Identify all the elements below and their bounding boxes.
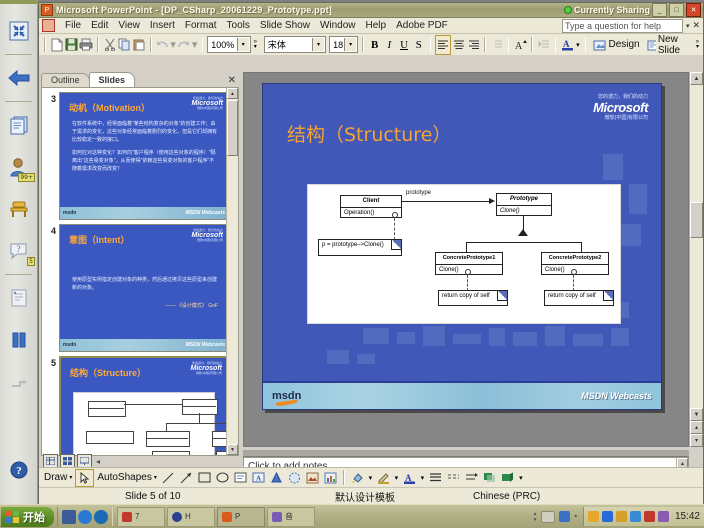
line-style-icon[interactable]: [427, 470, 444, 486]
thumbnail-quote: —— 《设计模式》 GoF: [72, 303, 218, 311]
uml-generalization-triangle: [518, 229, 528, 236]
thumbnail-scrollbar[interactable]: ▲ ▼: [226, 88, 238, 455]
ask-a-question-input[interactable]: Type a question for help: [562, 19, 683, 33]
slide-footer: msdn MSDN Webcasts: [263, 381, 661, 409]
scroll-tasks-icon[interactable]: ▲▼: [533, 511, 538, 523]
fill-color-icon[interactable]: [349, 470, 366, 486]
leave-icon: [0, 361, 38, 403]
numbering-icon: [490, 36, 504, 54]
toolbar-sep-1: [97, 37, 99, 52]
menu-item-adobe-pdf[interactable]: Adobe PDF: [391, 19, 453, 33]
taskbar-item-label: 7: [135, 512, 139, 521]
align-left-button[interactable]: [435, 35, 451, 55]
redo-icon: [177, 36, 191, 54]
paste-icon[interactable]: [132, 36, 146, 54]
normal-view-button[interactable]: [43, 454, 58, 468]
qa-count-badge: 5: [27, 257, 35, 266]
msdn-logo: msdn: [63, 342, 76, 348]
shadow-style-icon[interactable]: [481, 470, 498, 486]
tray-icon-orange[interactable]: [588, 511, 599, 522]
document-icon: [42, 19, 55, 32]
chevron-down-icon: ▾: [69, 474, 72, 481]
svg-text:?: ?: [17, 244, 21, 254]
chevron-down-icon[interactable]: ▾: [312, 38, 324, 51]
ms-subsidiary: 微软(中国)有限公司: [593, 116, 648, 122]
taskbar-item-label: 音: [285, 511, 293, 522]
msdn-webcasts-label: MSDN Webcasts: [581, 391, 652, 401]
menu-item-tools[interactable]: Tools: [222, 19, 255, 33]
uml-class-diagram[interactable]: Client Operation() prototype Prototype C…: [307, 184, 621, 324]
scrollbar-thumb[interactable]: [227, 100, 238, 156]
3d-style-icon[interactable]: [499, 470, 516, 486]
font-name-value: 宋体: [268, 38, 312, 51]
browser-icon[interactable]: [94, 510, 108, 524]
increase-font-size-icon[interactable]: A: [513, 36, 527, 54]
design-button-label: Design: [608, 39, 639, 50]
menu-bar: File Edit View Insert Format Tools Slide…: [39, 18, 703, 34]
thumbnail-paragraph: 使用原型实例指定创建对象的种类，然后通过拷贝这些原型来创建新的对象。: [72, 277, 218, 293]
previous-slide-button[interactable]: ▴: [690, 421, 703, 434]
close-button[interactable]: ✕: [686, 3, 701, 17]
svg-text:?: ?: [16, 465, 22, 477]
menu-item-edit[interactable]: Edit: [86, 19, 113, 33]
rail-divider-1: [5, 54, 32, 55]
menu-item-format[interactable]: Format: [180, 19, 222, 33]
minimize-button[interactable]: _: [652, 3, 667, 17]
scroll-controls-bottom: ▼ ▴ ▾: [690, 408, 703, 447]
uml-class-name: ConcretePrototype2: [542, 253, 608, 265]
text-box-icon[interactable]: [232, 470, 249, 486]
line-icon[interactable]: [160, 470, 177, 486]
attendees-icon[interactable]: 99+: [0, 146, 38, 188]
thumbnail-item[interactable]: 4 意图（Intent） 您的潜力，我们的动力 Microsoft 微软(中国)…: [42, 220, 238, 352]
tray-icon-purple[interactable]: [658, 511, 669, 522]
scroll-up-arrow-icon[interactable]: ▲: [227, 88, 238, 99]
close-document-button[interactable]: ✕: [692, 20, 700, 31]
handouts-icon[interactable]: [0, 104, 38, 146]
meeting-notes-icon[interactable]: [0, 277, 38, 319]
language-indicator[interactable]: Chinese (PRC): [467, 491, 546, 502]
tab-outline[interactable]: Outline: [41, 73, 90, 87]
quick-launch-bar: [57, 507, 113, 526]
align-right-button[interactable]: [467, 36, 481, 54]
thumbnail-number: 5: [44, 356, 59, 368]
taskbar-item[interactable]: H: [167, 507, 215, 527]
pause-icon[interactable]: [0, 319, 38, 361]
font-size-value: 18: [333, 40, 344, 50]
slide-sorter-view-button[interactable]: [60, 454, 75, 468]
thumbnail-title: 意图（Intent）: [69, 233, 130, 246]
copy-icon[interactable]: [118, 36, 132, 54]
ime-more-icon[interactable]: ▪: [574, 513, 576, 520]
uml-class-name: Prototype: [497, 194, 551, 206]
oval-icon[interactable]: [214, 470, 231, 486]
toolbar-sep-2: [150, 37, 152, 52]
uml-association-label: prototype: [406, 190, 431, 196]
shadow-button[interactable]: S: [412, 36, 426, 54]
note-fold-corner-icon: [603, 291, 613, 301]
close-pane-button[interactable]: ✕: [228, 74, 239, 87]
draw-menu-label: Draw: [44, 472, 67, 483]
view-mode-buttons: ◂: [43, 454, 100, 468]
bold-button[interactable]: B: [368, 36, 382, 54]
toolbar-sep-5: [430, 37, 432, 52]
thumbnail-number: 4: [44, 224, 59, 236]
help-icon[interactable]: ?: [0, 449, 38, 491]
drawbar-sep-1: [343, 470, 345, 485]
ms-subsidiary: 微软(中国)有限公司: [192, 239, 224, 242]
menu-item-window[interactable]: Window: [315, 19, 361, 33]
screen: 99+ ? 5 ? P Microsoft PowerPoint - [DP_C…: [0, 0, 704, 528]
show-desktop-icon[interactable]: [62, 510, 76, 524]
thumbnail-slide-4[interactable]: 意图（Intent） 您的潜力，我们的动力 Microsoft 微软(中国)有限…: [59, 224, 229, 352]
app-icon: [272, 512, 282, 522]
ms-subsidiary: 微软(中国)有限公司: [192, 107, 224, 110]
thumbnail-title: 结构（Structure）: [70, 366, 146, 379]
design-template-name: 默认设计模板: [329, 489, 401, 504]
ms-wordmark: Microsoft: [593, 101, 648, 116]
save-icon[interactable]: [64, 36, 78, 54]
seating-icon[interactable]: [0, 188, 38, 230]
thumbnail-ms-logo: 您的潜力，我们的动力 Microsoft 微软(中国)有限公司: [192, 229, 224, 243]
thumbnail-ms-logo: 您的潜力，我们的动力 Microsoft 微软(中国)有限公司: [191, 362, 223, 376]
sharing-status-dot: [564, 6, 572, 14]
title-bar-right: Currently Sharing _ □ ✕: [564, 3, 701, 17]
tray-icon-person[interactable]: [616, 511, 627, 522]
undo-dropdown-icon: ▾: [170, 36, 176, 54]
svg-text:A: A: [256, 475, 261, 483]
print-icon[interactable]: [79, 36, 93, 54]
uml-generalization-bar: [466, 242, 582, 243]
uml-generalization-stem: [523, 216, 524, 230]
thumbnail-ms-logo: 您的潜力，我们的动力 Microsoft 微软(中国)有限公司: [192, 97, 224, 111]
font-color-dropdown-icon[interactable]: ▾: [419, 470, 426, 486]
fill-color-dropdown-icon[interactable]: ▾: [367, 470, 374, 486]
next-slide-button[interactable]: ▾: [690, 434, 703, 447]
svg-text:A: A: [563, 39, 570, 49]
system-clock[interactable]: 15:42: [672, 511, 700, 522]
notes-splitter[interactable]: [243, 449, 689, 457]
standard-formatting-toolbar: ▾ ▾ 100% ▾ »▾ 宋体 ▾ 18 ▾ B I U S: [39, 34, 703, 56]
chevron-down-icon: ▾: [154, 474, 157, 481]
slide-show-view-button[interactable]: [77, 454, 92, 468]
restore-button[interactable]: □: [669, 3, 684, 17]
uml-association-line: [402, 201, 490, 202]
font-size-combo[interactable]: 18 ▾: [329, 36, 358, 53]
uml-note-text: p = prototype–>Clone(): [322, 242, 384, 248]
thumbnail-uml-diagram: [73, 392, 215, 456]
draw-menu-button[interactable]: Draw ▾: [42, 472, 74, 483]
arrow-icon[interactable]: [178, 470, 195, 486]
slide-ms-logo: 您的潜力，我们的动力 Microsoft 微软(中国)有限公司: [593, 95, 648, 121]
thumbnail-body: 使用原型实例指定创建对象的种类，然后通过拷贝这些原型来创建新的对象。 —— 《设…: [72, 277, 218, 310]
tray-icon-blue[interactable]: [602, 511, 613, 522]
app-icon: [122, 512, 132, 522]
window-title: Microsoft PowerPoint - [DP_CSharp_200612…: [56, 5, 332, 15]
align-center-button[interactable]: [452, 36, 466, 54]
tab-slides[interactable]: Slides: [89, 72, 136, 87]
menu-item-insert[interactable]: Insert: [145, 19, 180, 33]
taskbar-items: 7 H P 音 ▲▼ ▪: [113, 507, 583, 527]
status-bar: Slide 5 of 10 默认设计模板 Chinese (PRC): [39, 487, 703, 504]
scroll-down-arrow-icon[interactable]: ▼: [690, 408, 703, 421]
taskbar: 开始 7 H P 音 ▲▼: [0, 504, 704, 528]
italic-button[interactable]: I: [383, 36, 397, 54]
powerpoint-app-icon: P: [41, 4, 53, 16]
taskbar-item-powerpoint[interactable]: P: [217, 507, 265, 527]
msdn-webcasts-label: MSDN Webcasts: [186, 210, 225, 216]
uml-operation: Clone(): [497, 206, 551, 217]
uml-note-link: [394, 218, 395, 240]
zoom-combo[interactable]: 100% ▾: [207, 36, 250, 53]
thumbnail-item[interactable]: 5 结构（Structure） 您的潜力，我们的动力 Microsoft 微软(…: [42, 352, 238, 456]
horizontal-scroll-left-icon[interactable]: ◂: [94, 457, 100, 466]
design-button[interactable]: Design: [590, 39, 642, 51]
thumbnail-footer: msdn MSDN Webcasts: [60, 207, 228, 219]
font-color-icon[interactable]: A: [560, 36, 574, 54]
msdn-logo: msdn: [63, 210, 76, 216]
tray-icon-red[interactable]: [644, 511, 655, 522]
msdn-logo: msdn: [272, 390, 301, 402]
font-color-icon[interactable]: A: [401, 470, 418, 486]
taskbar-item[interactable]: 7: [117, 507, 165, 527]
drawbar-overflow-icon[interactable]: ▾: [517, 470, 525, 486]
thumbnail-slide-5[interactable]: 结构（Structure） 您的潜力，我们的动力 Microsoft 微软(中国…: [59, 356, 229, 456]
insert-picture-icon[interactable]: [304, 470, 321, 486]
app-icon: [172, 512, 182, 522]
thumbnail-paragraph: 如何应对这种变化？如何向"客户程序（使用这些对象的程序）"隔离出"这些易变对象"…: [72, 150, 218, 173]
insert-chart-icon[interactable]: [322, 470, 339, 486]
autoshapes-menu-label: AutoShapes: [97, 472, 152, 483]
cut-icon[interactable]: [103, 36, 117, 54]
menu-item-view[interactable]: View: [113, 19, 145, 33]
thumbnail-footer: msdn MSDN Webcasts: [60, 339, 228, 351]
powerpoint-app-icon: [222, 512, 232, 522]
thumbnail-title: 动机（Motivation）: [69, 101, 150, 114]
work-area: Outline Slides ✕ 3 动机（Motivation） 您的潜力，我…: [39, 55, 703, 504]
rail-divider-3: [5, 274, 32, 275]
select-objects-icon[interactable]: [75, 469, 94, 487]
shrink-window-icon[interactable]: [0, 10, 38, 52]
system-tray: 15:42: [583, 507, 704, 526]
uml-class-name: Client: [341, 196, 401, 208]
thumbnail-body: 在软件系统中，经常面临着"某些结构复杂的对象"的创建工作；由于需求的变化，这些对…: [72, 121, 218, 180]
rail-divider-2: [5, 101, 32, 102]
powerpoint-window: P Microsoft PowerPoint - [DP_CSharp_2006…: [38, 2, 704, 505]
uml-association-arrow: [489, 198, 495, 204]
chevron-down-icon[interactable]: ▾: [686, 22, 690, 30]
thumbnail-slide-3[interactable]: 动机（Motivation） 您的潜力，我们的动力 Microsoft 微软(中…: [59, 92, 229, 220]
toolbar-sep-10: [585, 37, 587, 52]
uml-note-client: p = prototype–>Clone(): [318, 239, 402, 256]
sharing-status-label: Currently Sharing: [574, 5, 650, 15]
decrease-indent-icon: [537, 36, 551, 54]
arrow-style-icon[interactable]: [463, 470, 480, 486]
qa-icon[interactable]: ? 5: [0, 230, 38, 272]
undo-icon: [156, 36, 170, 54]
insert-clipart-icon[interactable]: [286, 470, 303, 486]
underline-button[interactable]: U: [397, 36, 411, 54]
thumbnail-item[interactable]: 3 动机（Motivation） 您的潜力，我们的动力 Microsoft 微软…: [42, 88, 238, 220]
slide-title[interactable]: 结构（Structure）: [287, 120, 451, 147]
uml-note-text: return copy of self: [442, 293, 490, 299]
uml-note-concrete-1: return copy of self: [438, 290, 508, 306]
autoshapes-menu-button[interactable]: AutoShapes ▾: [95, 472, 159, 483]
uml-anchor-point: [392, 212, 398, 218]
drawing-toolbar: Draw ▾ AutoShapes ▾ A: [39, 467, 703, 487]
zoom-stepper[interactable]: »▾: [252, 36, 259, 54]
taskbar-extra-icons: ▲▼ ▪: [533, 511, 583, 523]
thumbnail-number: 3: [44, 92, 59, 104]
menu-item-slide-show[interactable]: Slide Show: [255, 19, 315, 33]
rectangle-icon[interactable]: [196, 470, 213, 486]
uml-note-link: [467, 275, 468, 291]
ms-subsidiary: 微软(中国)有限公司: [191, 372, 223, 375]
chevron-down-icon[interactable]: ▾: [237, 38, 249, 51]
language-bar-icon[interactable]: [541, 511, 555, 523]
msdn-webcasts-label: MSDN Webcasts: [186, 342, 225, 348]
slide-counter: Slide 5 of 10: [119, 491, 187, 502]
taskbar-item-label: P: [235, 512, 240, 521]
toolbar-sep-8: [531, 37, 533, 52]
back-arrow-icon[interactable]: [0, 57, 38, 99]
toolbar-sep-7: [508, 37, 510, 52]
scrollbar-thumb[interactable]: [690, 202, 703, 238]
note-fold-corner-icon: [391, 240, 401, 250]
toolbar-overflow-button[interactable]: »▾: [694, 36, 701, 54]
note-fold-corner-icon: [497, 291, 507, 301]
ime-icon[interactable]: [559, 511, 570, 522]
current-slide[interactable]: 结构（Structure） 您的潜力，我们的动力 Microsoft 微软(中国…: [262, 83, 662, 410]
live-meeting-sidebar: 99+ ? 5 ?: [0, 0, 38, 505]
uml-note-link: [573, 275, 574, 291]
attendees-count-badge: 99+: [18, 173, 35, 182]
line-color-dropdown-icon[interactable]: ▾: [393, 470, 400, 486]
chevron-down-icon[interactable]: ▾: [344, 38, 356, 51]
title-bar: P Microsoft PowerPoint - [DP_CSharp_2006…: [39, 3, 703, 18]
insert-diagram-icon[interactable]: [268, 470, 285, 486]
dash-style-icon[interactable]: [445, 470, 462, 486]
toolbar-sep-4: [362, 37, 364, 52]
toolbar-grip-1[interactable]: [44, 37, 46, 52]
line-color-icon[interactable]: [375, 470, 392, 486]
rail-top-accent: [0, 0, 37, 4]
slide-area-scrollbar[interactable]: ▲ ▼ ▴ ▾: [689, 72, 703, 447]
insert-wordart-icon[interactable]: A: [250, 470, 267, 486]
uml-note-concrete-2: return copy of self: [544, 290, 614, 306]
taskbar-item[interactable]: 音: [267, 507, 315, 527]
uml-anchor-point: [465, 269, 471, 275]
tray-icon-mail[interactable]: [630, 511, 641, 522]
menu-item-file[interactable]: File: [60, 19, 86, 33]
toolbar-sep-3: [202, 37, 204, 52]
media-player-icon[interactable]: [78, 510, 92, 524]
windows-flag-icon: [6, 511, 19, 523]
new-slide-button-label: New Slide: [658, 34, 690, 56]
menu-bar-right: Type a question for help ▾ ✕: [562, 19, 700, 33]
thumbnail-paragraph: 在软件系统中，经常面临着"某些结构复杂的对象"的创建工作；由于需求的变化，这些对…: [72, 121, 218, 144]
scroll-up-arrow-icon[interactable]: ▲: [690, 72, 703, 85]
toolbar-sep-9: [555, 37, 557, 52]
svg-text:A: A: [515, 41, 523, 50]
font-name-combo[interactable]: 宋体 ▾: [264, 36, 326, 53]
slide-edit-area[interactable]: 结构（Structure） 您的潜力，我们的动力 Microsoft 微软(中国…: [243, 72, 689, 447]
font-color-dropdown-icon[interactable]: ▾: [575, 36, 581, 54]
new-icon[interactable]: [50, 36, 64, 54]
uml-anchor-point: [571, 269, 577, 275]
taskbar-item-label: H: [185, 512, 191, 521]
toolbar-sep-6: [484, 37, 486, 52]
scroll-down-arrow-icon[interactable]: ▼: [227, 444, 238, 455]
zoom-value: 100%: [211, 40, 236, 50]
redo-dropdown-icon: ▾: [192, 36, 198, 54]
new-slide-button[interactable]: New Slide: [644, 34, 693, 56]
uml-class-prototype: Prototype Clone(): [496, 193, 552, 216]
menu-item-help[interactable]: Help: [361, 19, 392, 33]
slide-thumbnail-pane[interactable]: 3 动机（Motivation） 您的潜力，我们的动力 Microsoft 微软…: [41, 87, 239, 456]
start-button[interactable]: 开始: [1, 507, 54, 527]
start-button-label: 开始: [23, 509, 45, 525]
uml-class-name: ConcretePrototype1: [436, 253, 502, 265]
uml-note-text: return copy of self: [548, 293, 596, 299]
outline-slides-tabs: Outline Slides ✕: [41, 73, 239, 87]
